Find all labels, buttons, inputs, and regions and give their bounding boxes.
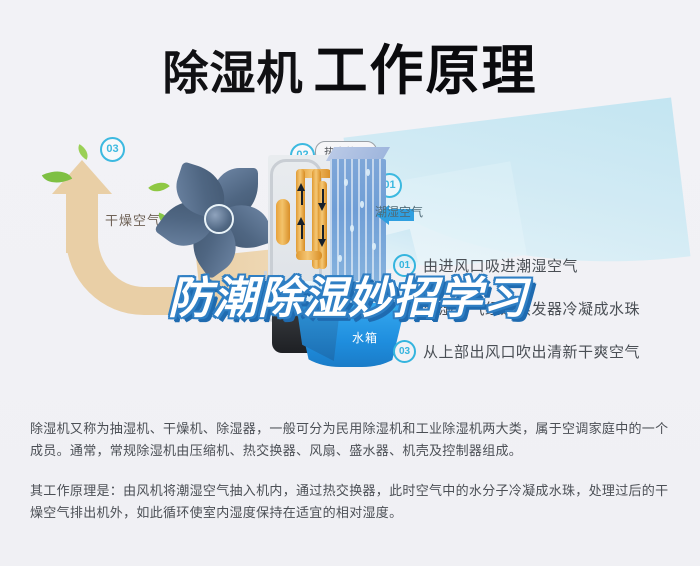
water-tank-label: 水箱 bbox=[352, 329, 378, 346]
flow-arrow-stem bbox=[322, 189, 324, 203]
list-item: 03 从上部出风口吹出清新干爽空气 bbox=[393, 336, 693, 366]
leaf-icon bbox=[74, 144, 91, 160]
flow-arrow-stem bbox=[301, 191, 303, 205]
fan-hub bbox=[204, 204, 234, 234]
flow-arrow-up bbox=[297, 183, 305, 191]
condensation-droplet bbox=[350, 225, 354, 232]
condensation-droplet bbox=[344, 179, 348, 186]
flow-arrow-down bbox=[318, 239, 326, 247]
step-text: 从上部出风口吹出清新干爽空气 bbox=[423, 341, 640, 362]
condensation-droplet bbox=[360, 201, 364, 208]
watermark-text: 防潮除湿妙招学习 bbox=[168, 262, 528, 326]
title-secondary: 工作原理 bbox=[314, 41, 538, 101]
condensation-droplet bbox=[366, 169, 370, 176]
infographic-page: 除湿机工作原理 干燥空气 03 02 01 热交换器 bbox=[0, 0, 700, 566]
humid-air-label: 潮湿空气 bbox=[375, 203, 423, 220]
title-primary: 除湿机 bbox=[163, 47, 304, 99]
condensation-droplet bbox=[338, 255, 342, 262]
flow-arrow-up bbox=[297, 217, 305, 225]
marker-03-dry-air: 03 bbox=[100, 137, 125, 162]
dry-air-label: 干燥空气 bbox=[105, 210, 161, 229]
flow-arrow-stem bbox=[301, 225, 303, 239]
copper-tube bbox=[296, 251, 322, 260]
paragraph-1: 除湿机又称为抽湿机、干燥机、除湿器，一般可分为民用除湿机和工业除湿机两大类，属于… bbox=[30, 418, 675, 462]
step-number: 03 bbox=[393, 340, 416, 363]
dry-air-arrow-shaft bbox=[66, 191, 98, 253]
paragraph-2: 其工作原理是：由风机将潮湿空气抽入机内，通过热交换器，此时空气中的水分子冷凝成水… bbox=[30, 480, 675, 524]
condensation-droplet bbox=[372, 243, 376, 250]
page-title: 除湿机工作原理 bbox=[0, 26, 700, 105]
copper-tube bbox=[296, 169, 305, 255]
body-copy: 除湿机又称为抽湿机、干燥机、除湿器，一般可分为民用除湿机和工业除湿机两大类，属于… bbox=[30, 418, 675, 542]
flow-arrow-down bbox=[318, 203, 326, 211]
flow-arrow-stem bbox=[322, 225, 324, 239]
compressor-cylinder bbox=[276, 199, 290, 245]
fan-assembly bbox=[168, 160, 280, 266]
